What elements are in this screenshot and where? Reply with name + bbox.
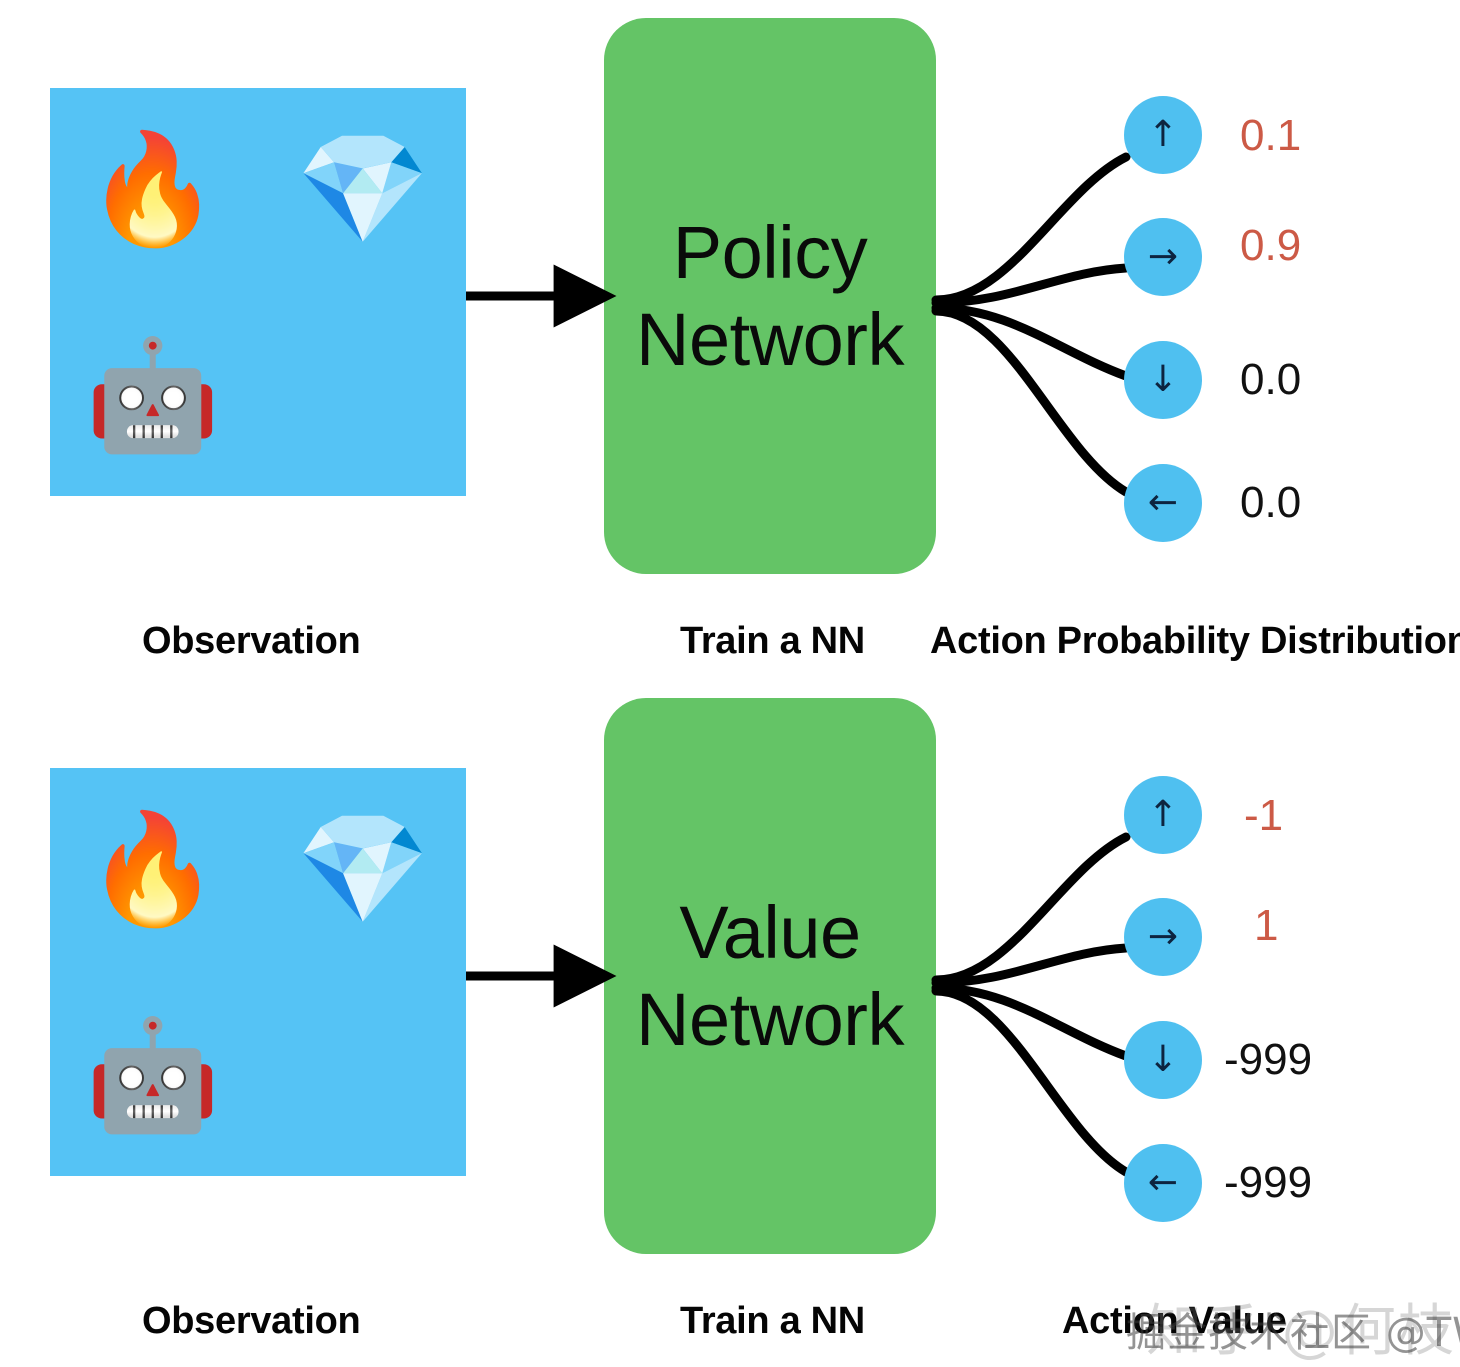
fire-icon: 🔥	[86, 135, 220, 243]
action-value-left: 0.0	[1240, 481, 1301, 525]
observation-caption-value: Observation	[142, 1302, 360, 1340]
arrow-right-icon: →	[1148, 919, 1178, 955]
diamond-cell: 💎	[260, 88, 466, 290]
robot-cell: 🤖	[50, 974, 256, 1176]
action-node-left-2[interactable]: ←	[1124, 1144, 1202, 1222]
observation-grid-value: 🔥 💎 🤖	[50, 768, 466, 1176]
network-to-action-wire-right-2	[936, 948, 1126, 983]
action-value-up: 0.1	[1240, 114, 1301, 158]
arrow-left-icon: ←	[1148, 485, 1178, 521]
value-network-box: Value Network	[604, 698, 936, 1254]
observation-grid-policy: 🔥 💎 🤖	[50, 88, 466, 496]
action-node-down-2[interactable]: ↓	[1124, 1021, 1202, 1099]
arrow-down-icon: ↓	[1148, 362, 1178, 398]
arrow-left-icon: ←	[1148, 1165, 1178, 1201]
network-to-action-wire-down	[936, 308, 1126, 376]
robot-icon: 🤖	[86, 341, 220, 449]
arrow-up-icon: ↑	[1148, 117, 1178, 153]
fire-cell: 🔥	[50, 768, 256, 970]
network-to-action-wire-down-2	[936, 988, 1126, 1056]
arrow-up-icon: ↑	[1148, 797, 1178, 833]
action-value-down: 0.0	[1240, 358, 1301, 402]
network-to-action-wire-up-2	[936, 837, 1126, 980]
action-node-down[interactable]: ↓	[1124, 341, 1202, 419]
action-node-up[interactable]: ↑	[1124, 96, 1202, 174]
policy-network-title: Policy Network	[636, 209, 904, 384]
action-value-left-2: -999	[1224, 1161, 1312, 1205]
robot-icon: 🤖	[86, 1021, 220, 1129]
action-value-down-2: -999	[1224, 1038, 1312, 1082]
arrow-down-icon: ↓	[1148, 1042, 1178, 1078]
diagram-canvas: 🔥 💎 🤖 Policy Network ↑ 0.1 → 0.9 ↓ 0.0 ←…	[0, 0, 1460, 1366]
arrow-right-icon: →	[1148, 239, 1178, 275]
network-caption-policy: Train a NN	[680, 622, 865, 660]
action-value-right-2: 1	[1254, 904, 1278, 948]
observation-caption-policy: Observation	[142, 622, 360, 660]
policy-network-box: Policy Network	[604, 18, 936, 574]
action-node-up-2[interactable]: ↑	[1124, 776, 1202, 854]
action-node-right[interactable]: →	[1124, 218, 1202, 296]
action-value-up-2: -1	[1244, 794, 1283, 838]
fire-icon: 🔥	[86, 815, 220, 923]
value-network-title: Value Network	[636, 889, 904, 1064]
diamond-cell: 💎	[260, 768, 466, 970]
action-node-right-2[interactable]: →	[1124, 898, 1202, 976]
empty-cell	[260, 974, 466, 1176]
network-caption-value: Train a NN	[680, 1302, 865, 1340]
diamond-icon: 💎	[296, 815, 430, 923]
empty-cell	[260, 294, 466, 496]
fire-cell: 🔥	[50, 88, 256, 290]
network-to-action-wire-up	[936, 157, 1126, 300]
network-to-action-wire-right	[936, 268, 1126, 303]
diamond-icon: 💎	[296, 135, 430, 243]
action-value-right: 0.9	[1240, 224, 1301, 268]
robot-cell: 🤖	[50, 294, 256, 496]
network-to-action-wire-left	[936, 311, 1126, 492]
action-node-left[interactable]: ←	[1124, 464, 1202, 542]
output-caption-policy: Action Probability Distribution	[930, 622, 1460, 660]
network-to-action-wire-left-2	[936, 991, 1126, 1172]
watermark-secondary: 掘金技术社区 @TW_xxxx	[1126, 1300, 1460, 1358]
